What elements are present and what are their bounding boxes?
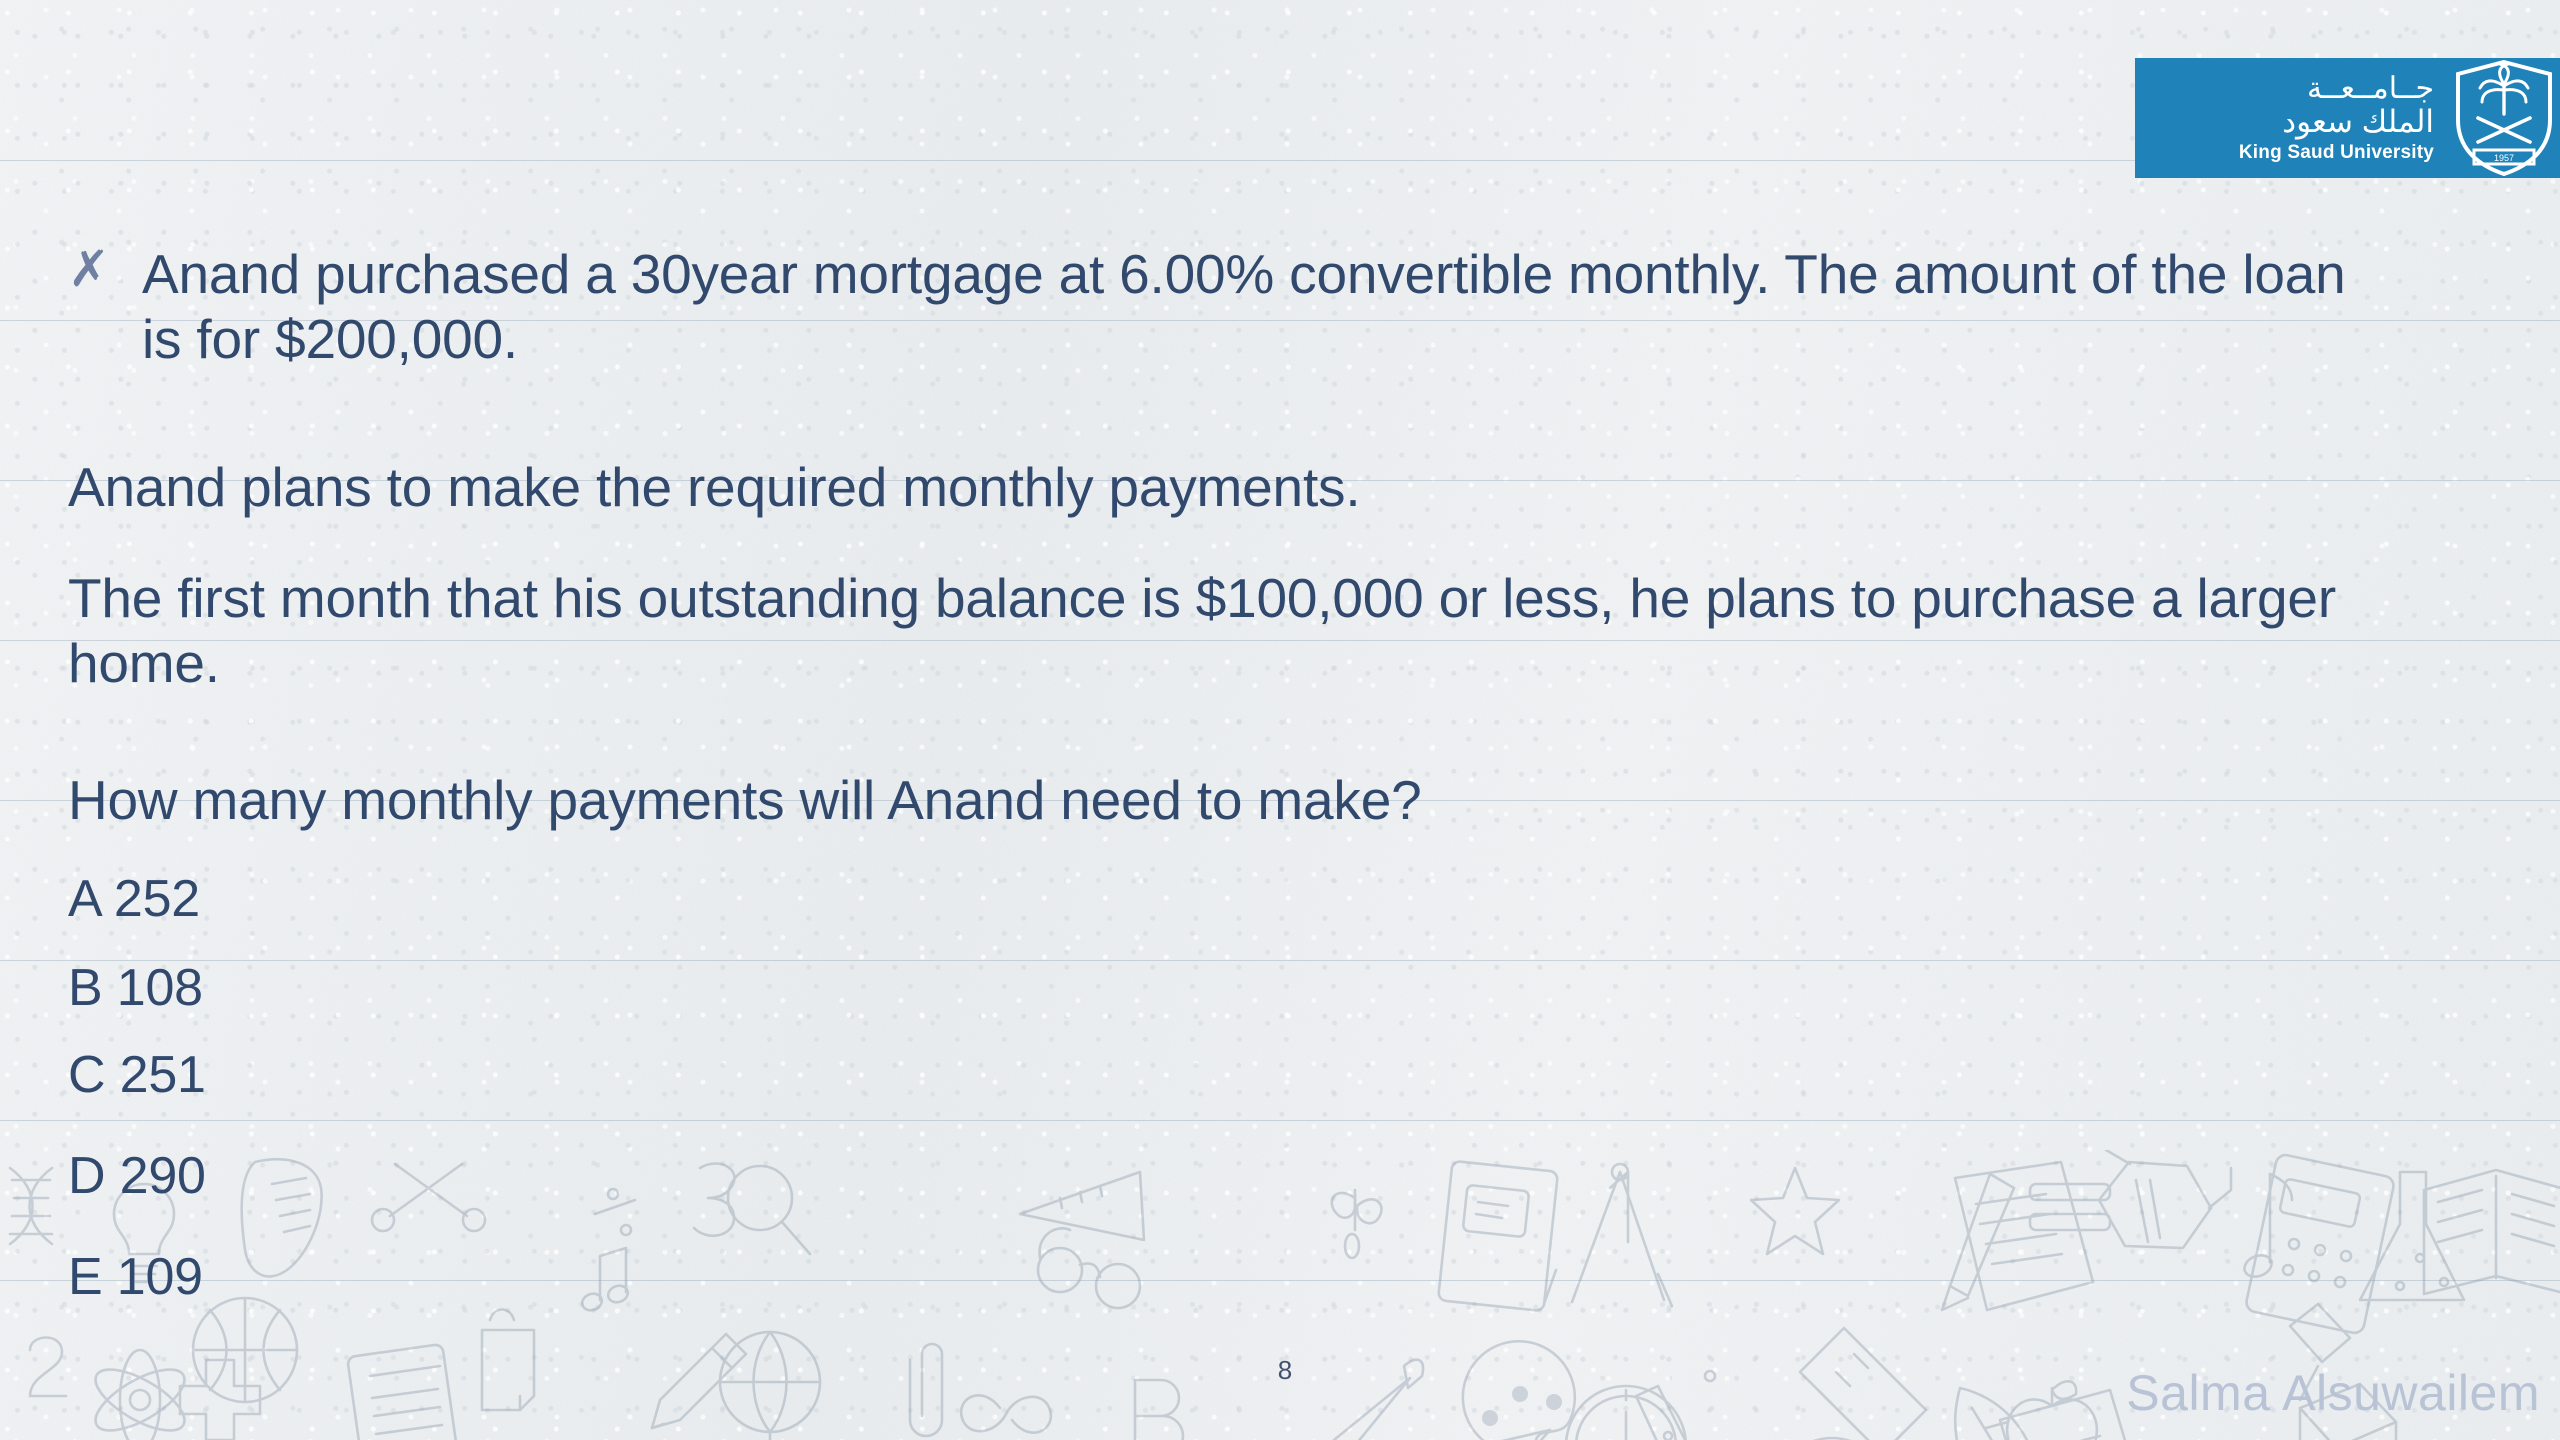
slide-canvas: جــامــعــة الملك سعود King Saud Univers… [0,0,2560,1440]
answer-option-b[interactable]: B 108 [68,961,968,1015]
answer-options-list: A 252 B 108 C 251 D 290 E 109 [68,872,968,1304]
question-paragraph-1: Anand plans to make the required monthly… [68,455,2398,520]
question-paragraph-3: How many monthly payments will Anand nee… [68,768,2398,833]
question-paragraph-2: The first month that his outstanding bal… [68,566,2398,696]
x-mark-bullet-icon: ✗ [68,242,142,296]
question-block: ✗ Anand purchased a 30year mortgage at 6… [68,242,2378,372]
answer-option-e[interactable]: E 109 [68,1250,968,1304]
author-watermark: Salma Alsuwailem [2126,1364,2540,1422]
slide-content: ✗ Anand purchased a 30year mortgage at 6… [0,0,2560,1440]
page-number: 8 [1255,1355,1315,1386]
answer-option-c[interactable]: C 251 [68,1048,968,1102]
question-statement: Anand purchased a 30year mortgage at 6.0… [142,242,2378,372]
answer-option-a[interactable]: A 252 [68,872,968,926]
answer-option-d[interactable]: D 290 [68,1149,968,1203]
